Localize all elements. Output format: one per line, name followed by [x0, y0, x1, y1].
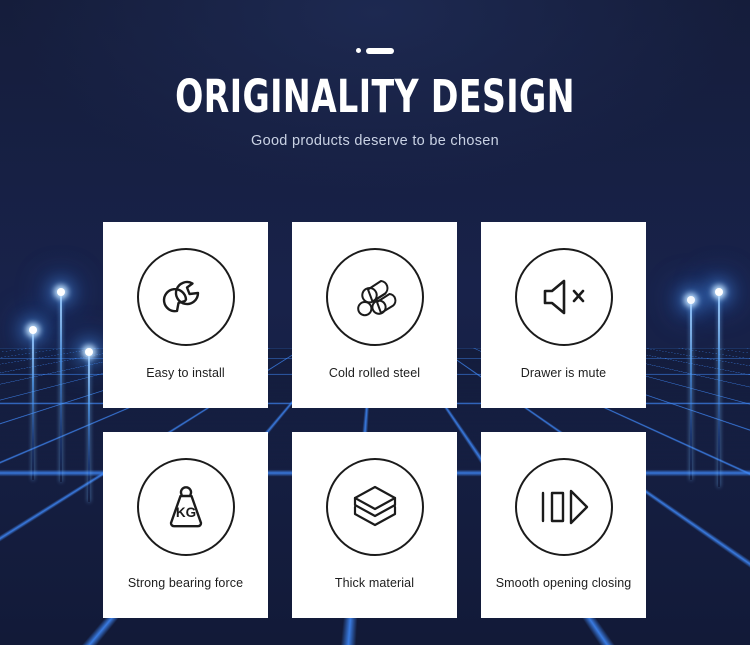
ornament-bar-icon: [366, 48, 394, 54]
wrench-icon: [160, 271, 212, 323]
feature-card-label: Strong bearing force: [122, 576, 249, 590]
light-beam: [32, 330, 34, 480]
light-beam: [718, 292, 720, 487]
icon-frame: [137, 248, 235, 346]
icon-frame: [326, 458, 424, 556]
icon-frame: [515, 458, 613, 556]
dot-dash-ornament: [356, 44, 394, 58]
page-subtitle: Good products deserve to be chosen: [0, 133, 750, 149]
svg-text:KG: KG: [175, 505, 195, 520]
light-beam: [60, 292, 62, 482]
feature-card-label: Smooth opening closing: [490, 576, 638, 590]
light-beam: [88, 352, 90, 502]
feature-card-label: Cold rolled steel: [323, 366, 426, 380]
feature-card-label: Easy to install: [140, 366, 231, 380]
feature-card[interactable]: Cold rolled steel: [292, 222, 457, 408]
page-title: ORIGINALITY DESIGN: [68, 74, 683, 119]
ornament-dot-icon: [356, 48, 361, 53]
banner-header: ORIGINALITY DESIGN Good products deserve…: [0, 40, 750, 149]
feature-card-label: Thick material: [329, 576, 420, 590]
icon-frame: [326, 248, 424, 346]
feature-card[interactable]: Easy to install: [103, 222, 268, 408]
icon-frame: [515, 248, 613, 346]
feature-card[interactable]: Drawer is mute: [481, 222, 646, 408]
feature-card-label: Drawer is mute: [515, 366, 612, 380]
promo-banner: ORIGINALITY DESIGN Good products deserve…: [0, 0, 750, 645]
icon-frame: KG: [137, 458, 235, 556]
slide-open-icon: [536, 485, 592, 529]
feature-card[interactable]: KG Strong bearing force: [103, 432, 268, 618]
light-beam: [690, 300, 692, 480]
feature-card[interactable]: Thick material: [292, 432, 457, 618]
feature-card[interactable]: Smooth opening closing: [481, 432, 646, 618]
layered-cube-icon: [349, 481, 401, 533]
feature-card-grid: Easy to install Cold rolled ste: [103, 222, 646, 618]
mute-speaker-icon: [537, 273, 591, 321]
steel-bars-icon: [348, 270, 402, 324]
kg-weight-icon: KG: [161, 481, 211, 533]
